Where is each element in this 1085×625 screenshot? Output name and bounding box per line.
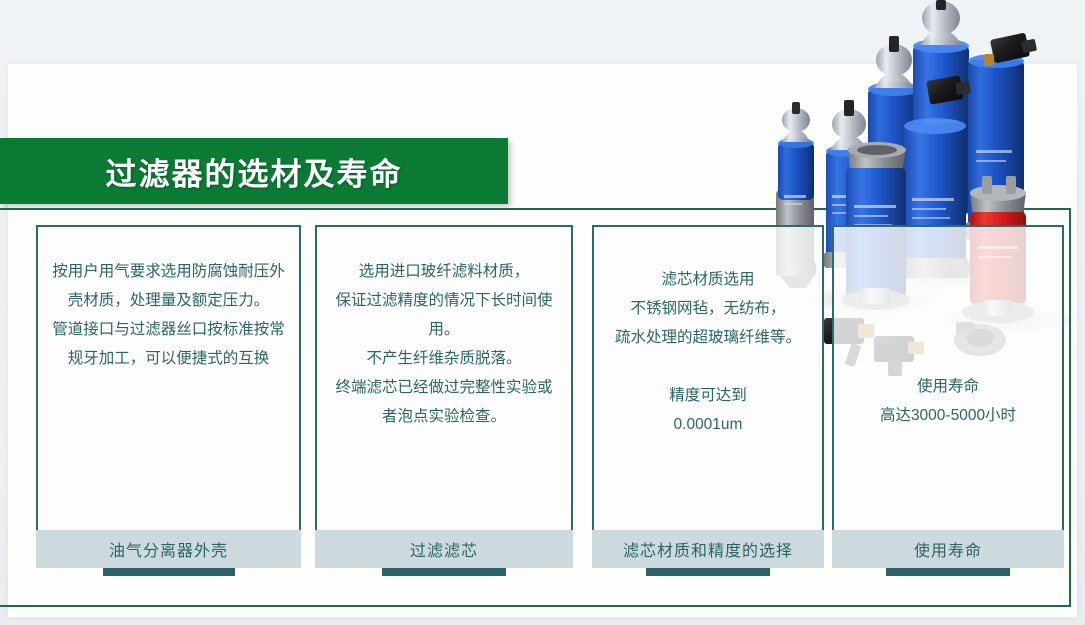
column-label-band: 使用寿命 bbox=[832, 530, 1064, 568]
column-label-band: 滤芯材质和精度的选择 bbox=[592, 530, 824, 568]
column-body-box: 使用寿命 高达3000-5000小时 bbox=[832, 225, 1064, 530]
column-underline-accent bbox=[382, 568, 506, 576]
column-label-text: 使用寿命 bbox=[914, 537, 982, 561]
column-label-text: 滤芯材质和精度的选择 bbox=[623, 537, 793, 561]
column-body-box: 滤芯材质选用 不锈钢网毡，无纺布， 疏水处理的超玻璃纤维等。 精度可达到 0.0… bbox=[592, 225, 824, 530]
column-label-text: 油气分离器外壳 bbox=[109, 537, 228, 561]
column-label-band: 油气分离器外壳 bbox=[36, 530, 301, 568]
feature-column-oil-gas-separator-housing[interactable]: 按用户用气要求选用防腐蚀耐压外壳材质，处理量及额定压力。 管道接口与过滤器丝口按… bbox=[36, 225, 301, 576]
column-underline-accent bbox=[886, 568, 1010, 576]
feature-column-service-life[interactable]: 使用寿命 高达3000-5000小时 使用寿命 bbox=[832, 225, 1064, 576]
column-underline-accent bbox=[103, 568, 235, 576]
column-body-text: 使用寿命 高达3000-5000小时 bbox=[834, 372, 1062, 430]
column-body-box: 选用进口玻纤滤料材质， 保证过滤精度的情况下长时间使用。 不产生纤维杂质脱落。 … bbox=[315, 225, 573, 530]
column-label-text: 过滤滤芯 bbox=[410, 537, 478, 561]
feature-columns: 按用户用气要求选用防腐蚀耐压外壳材质，处理量及额定压力。 管道接口与过滤器丝口按… bbox=[0, 0, 1085, 625]
feature-column-element-material-and-accuracy[interactable]: 滤芯材质选用 不锈钢网毡，无纺布， 疏水处理的超玻璃纤维等。 精度可达到 0.0… bbox=[592, 225, 824, 576]
feature-column-filter-element[interactable]: 选用进口玻纤滤料材质， 保证过滤精度的情况下长时间使用。 不产生纤维杂质脱落。 … bbox=[315, 225, 573, 576]
column-body-box: 按用户用气要求选用防腐蚀耐压外壳材质，处理量及额定压力。 管道接口与过滤器丝口按… bbox=[36, 225, 301, 530]
page-background: 过滤器的选材及寿命 按用户用气要求选用防腐蚀耐压外壳材质，处理量及额定压力。 管… bbox=[0, 0, 1085, 625]
column-body-text: 按用户用气要求选用防腐蚀耐压外壳材质，处理量及额定压力。 管道接口与过滤器丝口按… bbox=[38, 257, 299, 373]
column-label-band: 过滤滤芯 bbox=[315, 530, 573, 568]
column-underline-accent bbox=[646, 568, 770, 576]
column-body-text: 选用进口玻纤滤料材质， 保证过滤精度的情况下长时间使用。 不产生纤维杂质脱落。 … bbox=[317, 257, 571, 431]
column-body-text: 滤芯材质选用 不锈钢网毡，无纺布， 疏水处理的超玻璃纤维等。 精度可达到 0.0… bbox=[594, 265, 822, 439]
